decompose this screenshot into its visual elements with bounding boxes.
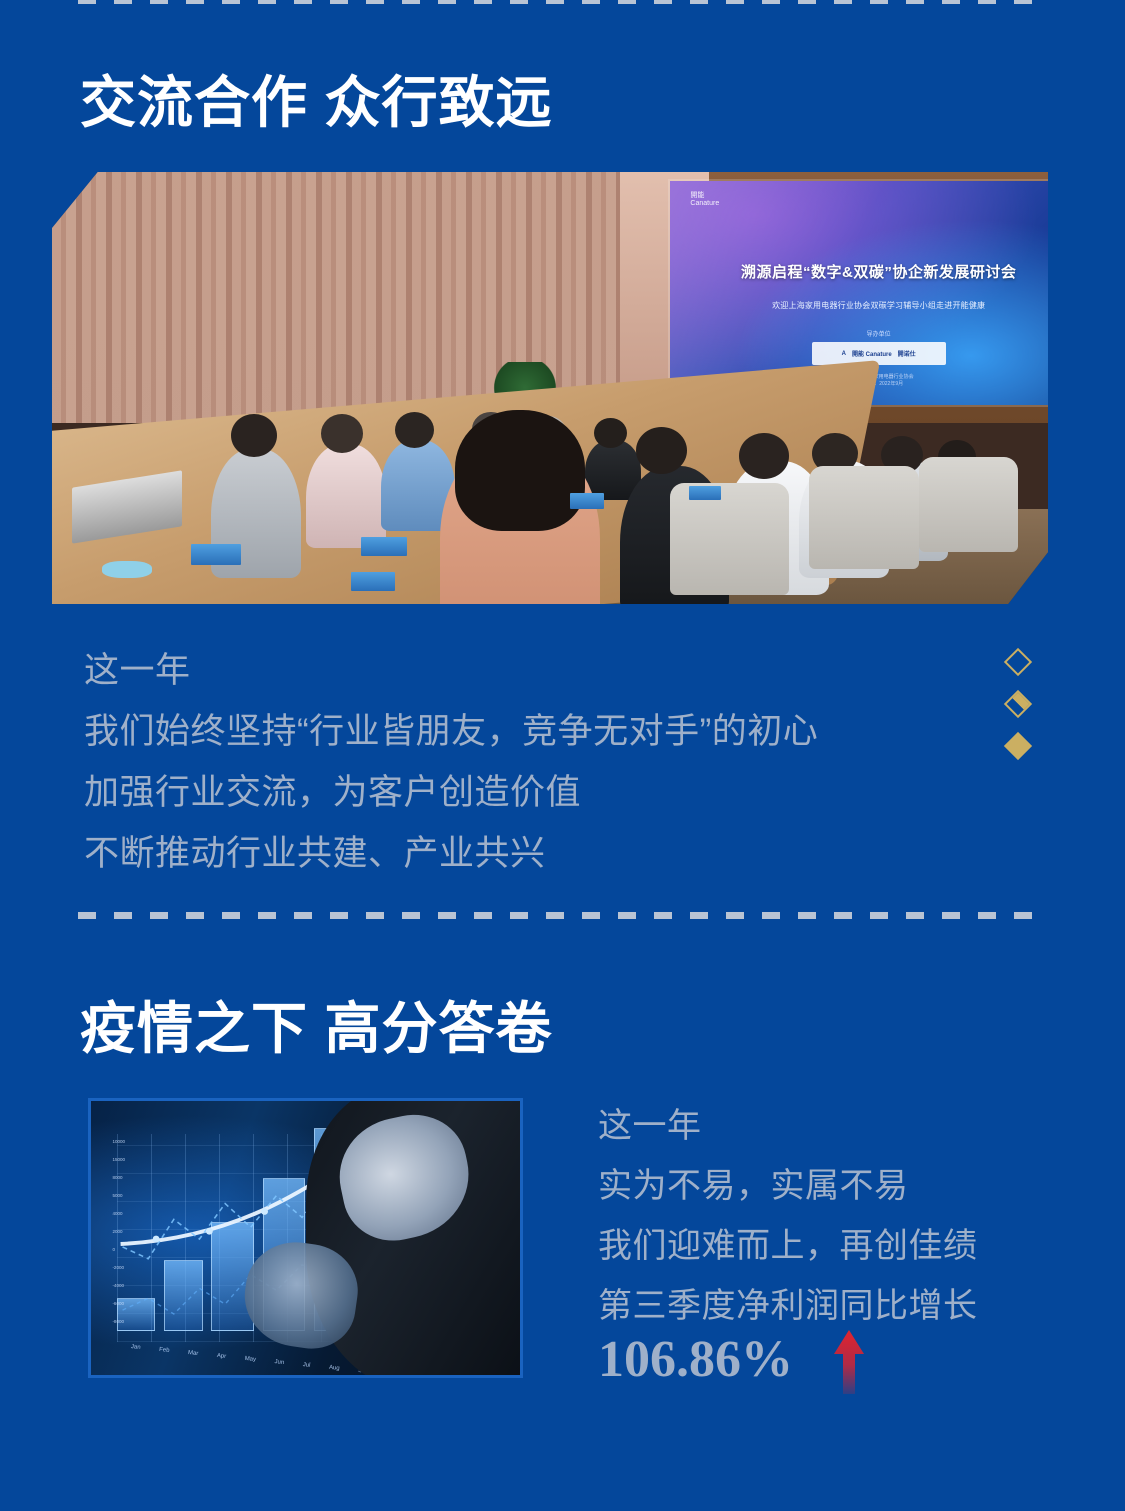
quote-line: 这一年 <box>598 1096 978 1156</box>
quote-line: 这一年 <box>84 640 818 701</box>
name-plate <box>361 537 407 557</box>
y-tick: 5000 <box>112 1193 125 1198</box>
screen-title: 溯源启程“数字&双碳”协企新发展研讨会 <box>686 261 1048 282</box>
y-tick: -6000 <box>112 1301 125 1306</box>
sponsor-logo-1: A <box>842 351 846 357</box>
conference-photo: 開能 Canature 溯源启程“数字&双碳”协企新发展研讨会 欢迎上海家用电器… <box>52 172 1048 604</box>
business-chart-photo: 10000 15000 8000 5000 4000 2000 0 -2000 … <box>88 1098 523 1378</box>
screen-logo-cn: 開能 <box>690 192 719 200</box>
quote-line: 不断推动行业共建、产业共兴 <box>84 823 818 884</box>
office-chair <box>919 457 1019 552</box>
quote-block-exchange: 这一年 我们始终坚持“行业皆朋友，竞争无对手”的初心 加强行业交流，为客户创造价… <box>84 640 818 884</box>
attendee-head <box>321 414 363 453</box>
attendee-head <box>594 418 627 448</box>
attendee-foreground-hair <box>455 410 584 531</box>
diamond-decoration-group <box>1008 652 1038 778</box>
chart-y-axis-labels: 10000 15000 8000 5000 4000 2000 0 -2000 … <box>112 1139 125 1324</box>
screen-host-label: 导办单位 <box>670 329 1048 338</box>
quote-line: 我们始终坚持“行业皆朋友，竞争无对手”的初心 <box>84 701 818 762</box>
name-plate <box>191 544 241 566</box>
quote-line: 实为不易，实属不易 <box>598 1156 978 1216</box>
x-tick: Jul <box>302 1362 310 1369</box>
diamond-filled-icon <box>1004 732 1032 760</box>
name-plate <box>351 572 395 591</box>
office-chair <box>809 466 919 570</box>
divider-top <box>78 0 1048 4</box>
x-tick: Feb <box>158 1347 169 1354</box>
y-tick: 15000 <box>112 1157 125 1162</box>
arrow-up-icon <box>832 1328 866 1394</box>
name-plate <box>689 486 721 501</box>
screen-logo: 開能 Canature <box>690 192 719 208</box>
attendee-head <box>739 433 789 478</box>
attendee <box>306 444 386 548</box>
y-tick: 0 <box>112 1247 125 1252</box>
x-tick: Aug <box>328 1365 339 1372</box>
face-mask <box>102 561 152 578</box>
y-tick: -4000 <box>112 1283 125 1288</box>
screen-subtitle: 欢迎上海家用电器行业协会双碳学习辅导小组走进开能健康 <box>686 300 1048 311</box>
section-heading-exchange: 交流合作 众行致远 <box>80 58 553 139</box>
x-tick: Apr <box>216 1353 226 1360</box>
y-tick: 4000 <box>112 1211 125 1216</box>
x-tick: Jun <box>274 1359 284 1366</box>
screen-logo-en: Canature <box>690 200 719 208</box>
divider-middle <box>78 912 1048 919</box>
quote-block-pandemic: 这一年 实为不易，实属不易 我们迎难而上，再创佳绩 第三季度净利润同比增长 <box>598 1096 978 1336</box>
y-tick: 8000 <box>112 1175 125 1180</box>
diamond-half-icon <box>1004 690 1032 718</box>
sponsor-logo-3: 開诺仕 <box>898 349 916 358</box>
sponsor-logo-2: 開能 Canature <box>852 349 892 358</box>
screen-sponsor-badge: A 開能 Canature 開诺仕 <box>812 342 946 364</box>
quote-line: 我们迎难而上，再创佳绩 <box>598 1216 978 1276</box>
x-tick: Mar <box>187 1350 198 1357</box>
name-plate <box>570 493 604 509</box>
y-tick: 10000 <box>112 1139 125 1144</box>
y-tick: 2000 <box>112 1229 125 1234</box>
poster-page: 交流合作 众行致远 開能 Canature 溯源启程“数字&双碳”协企新发展研讨… <box>0 0 1125 1511</box>
x-tick: Dec <box>444 1377 455 1378</box>
office-chair <box>670 483 790 595</box>
quote-line: 加强行业交流，为客户创造价值 <box>84 762 818 823</box>
y-tick: -2000 <box>112 1265 125 1270</box>
growth-metric-value: 106.86% <box>598 1330 793 1389</box>
x-tick: Jan <box>130 1344 140 1351</box>
section-heading-pandemic: 疫情之下 高分答卷 <box>80 984 553 1065</box>
diamond-outline-icon <box>1004 648 1032 676</box>
quote-line: 第三季度净利润同比增长 <box>598 1276 978 1336</box>
y-tick: -8000 <box>112 1319 125 1324</box>
attendee-head <box>231 414 277 457</box>
x-tick: May <box>244 1356 256 1363</box>
